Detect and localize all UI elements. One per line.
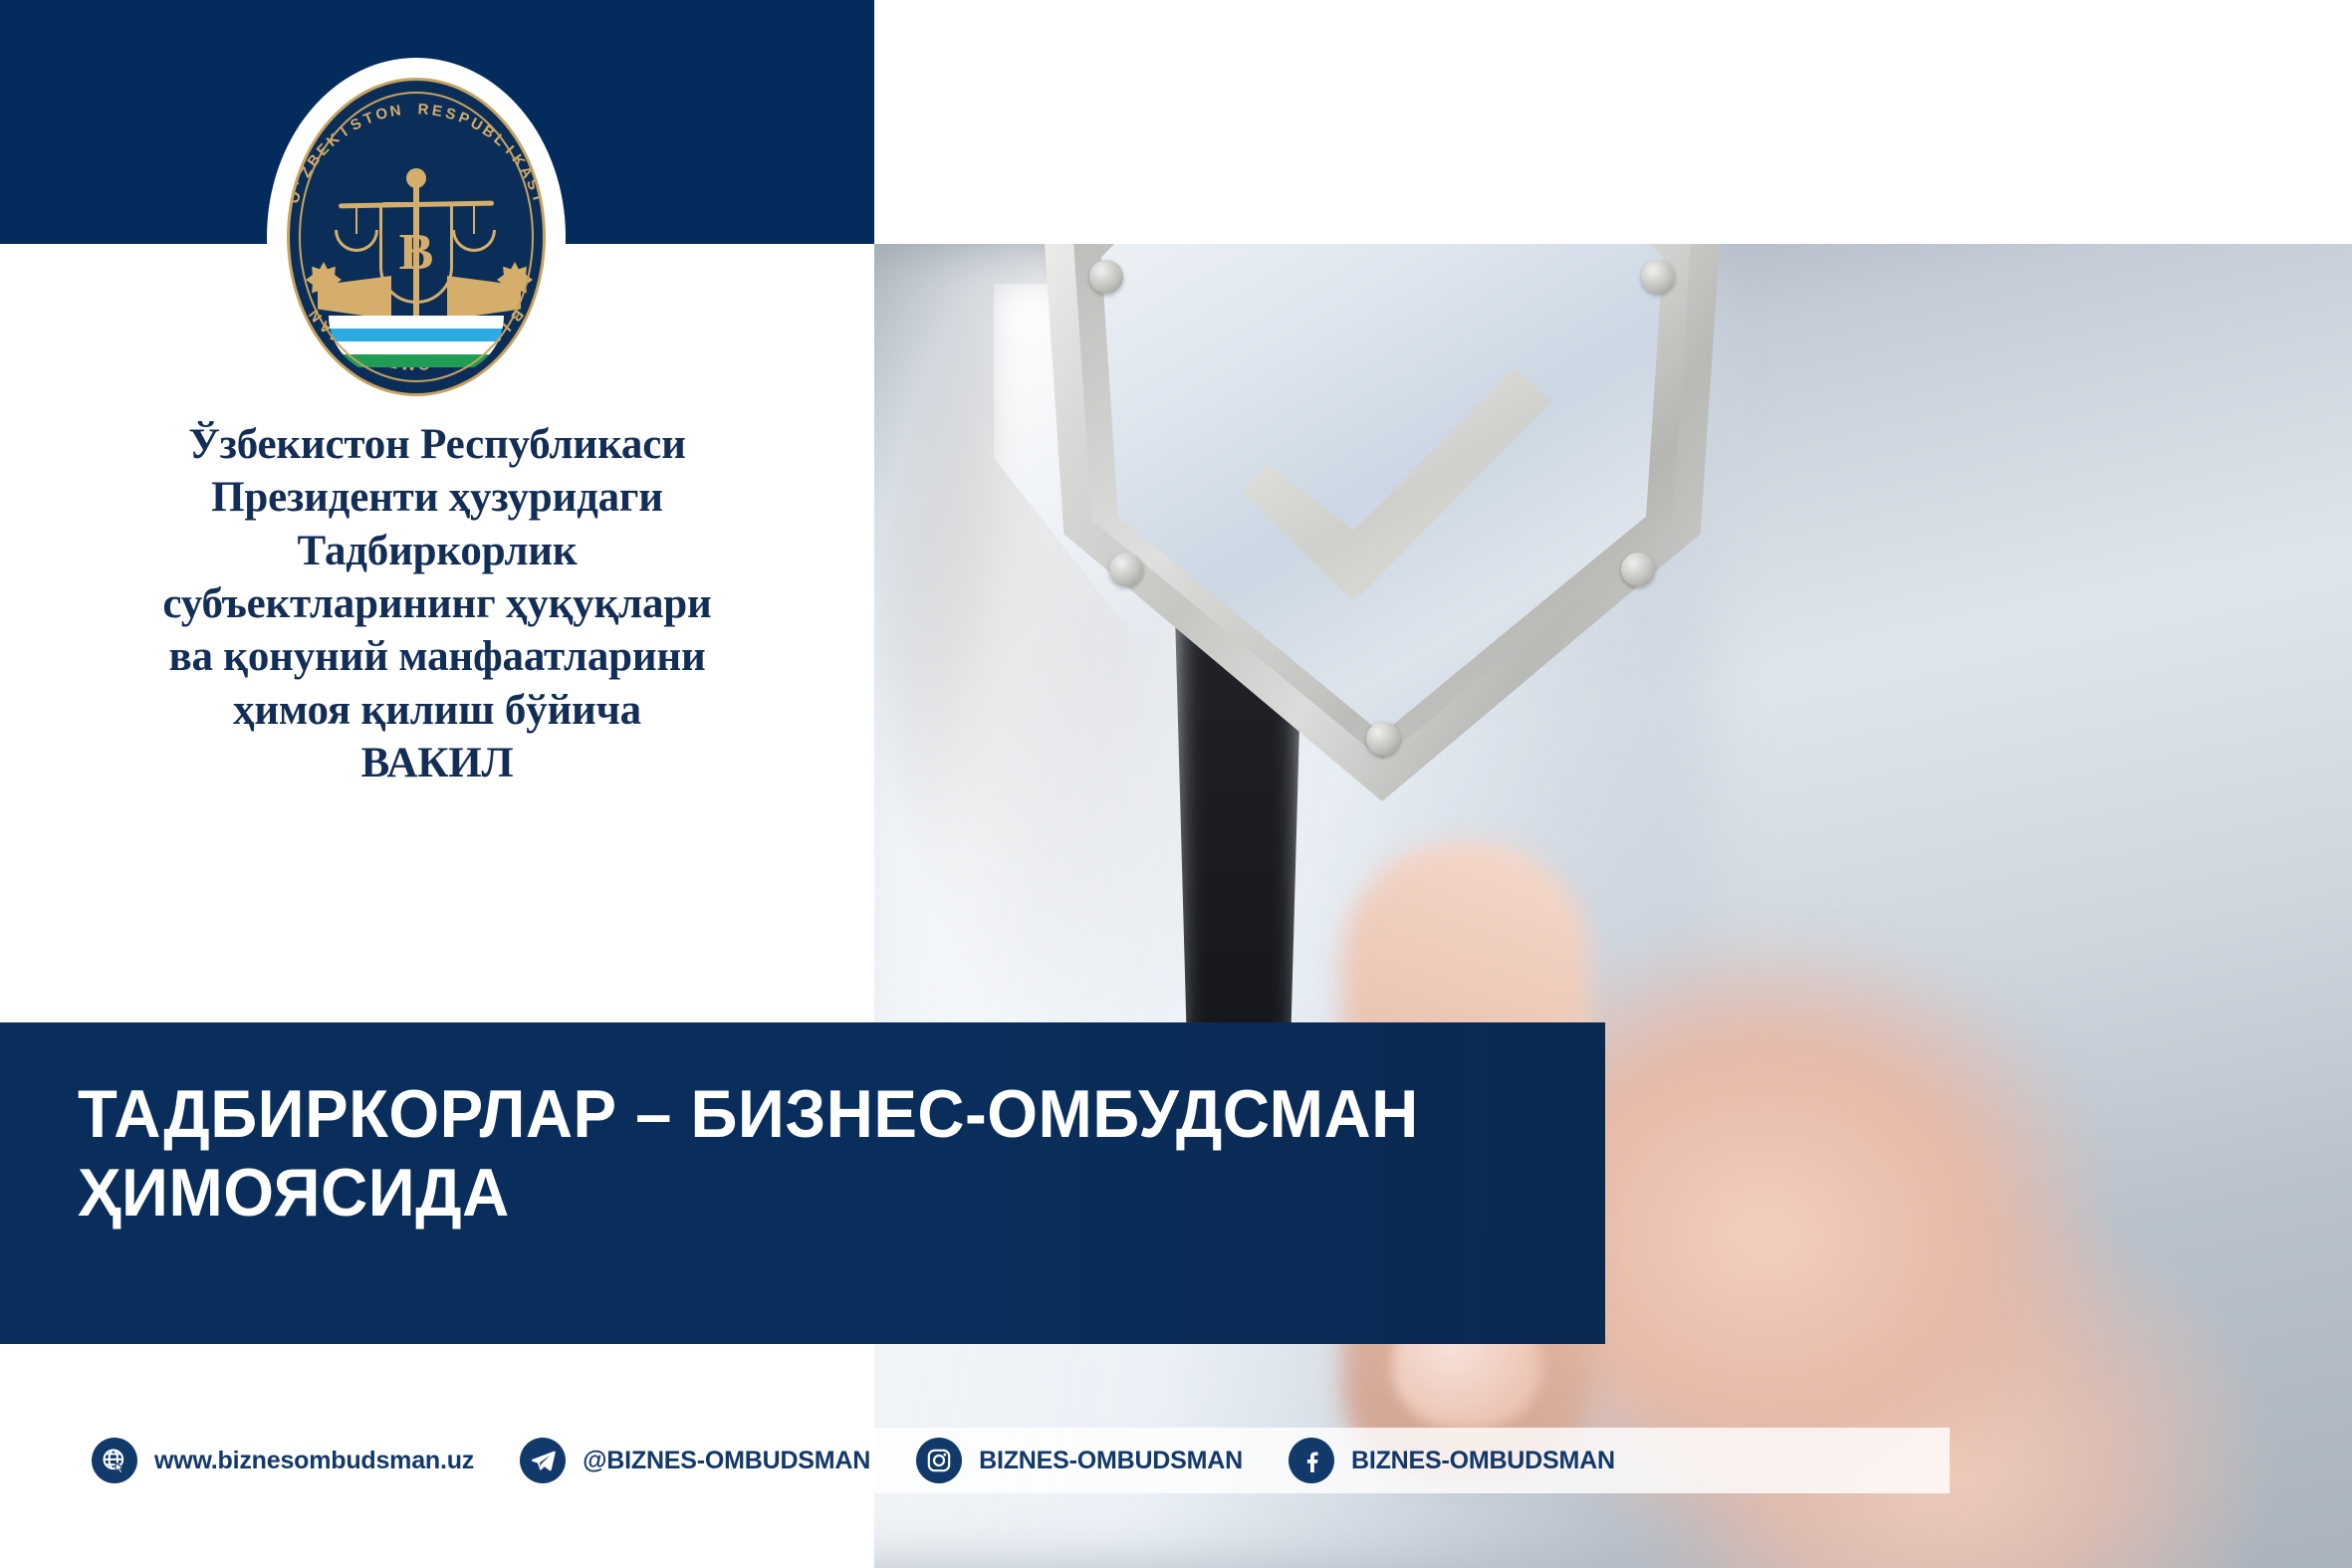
social-link-telegram[interactable]: @BIZNES-OMBUDSMAN: [520, 1438, 870, 1483]
social-link-website[interactable]: www.biznesombudsman.uz: [92, 1438, 474, 1483]
social-label-instagram: BIZNES-OMBUDSMAN: [979, 1447, 1243, 1475]
social-link-facebook[interactable]: BIZNES-OMBUDSMAN: [1289, 1438, 1615, 1483]
shield-rivet: [1641, 260, 1675, 294]
emblem-center-letter: B: [379, 202, 453, 304]
shield-rivet: [1366, 722, 1400, 756]
telegram-icon: [520, 1438, 566, 1483]
org-line: Ўзбекистон Республикаси: [0, 418, 874, 471]
org-line: ва қонуний манфаатларини: [0, 630, 874, 683]
emblem-scales-of-justice-icon: [333, 172, 500, 292]
organization-name-block: Ўзбекистон Республикаси Президенти ҳузур…: [0, 418, 874, 789]
poster-canvas: O‘ZBEKISTON RESPUBLIKASI BIZNES-OMBUDSMA…: [0, 0, 2352, 1568]
social-label-facebook: BIZNES-OMBUDSMAN: [1351, 1447, 1615, 1475]
shield-rivet: [1621, 553, 1655, 586]
instagram-icon: [916, 1438, 962, 1483]
org-line: ҳимоя қилиш бўйича: [0, 684, 874, 737]
shield-inner-face: [1101, 244, 1663, 734]
social-link-instagram[interactable]: BIZNES-OMBUDSMAN: [916, 1438, 1243, 1483]
shield-checkmark-graphic: [1044, 244, 1721, 801]
social-label-website: www.biznesombudsman.uz: [154, 1447, 474, 1475]
globe-icon: [92, 1438, 137, 1483]
emblem-book-right: [447, 276, 521, 320]
background-photo-businessman-shield: [874, 244, 2352, 1568]
social-links-row: www.biznesombudsman.uz @BIZNES-OMBUDSMAN…: [0, 1428, 2352, 1493]
headline-line: ТАДБИРКОРЛАР – БИЗНЕС-ОМБУДСМАН: [78, 1075, 1512, 1154]
emblem-star-left: [306, 262, 342, 298]
biznes-ombudsman-emblem: O‘ZBEKISTON RESPUBLIKASI BIZNES-OMBUDSMA…: [287, 78, 546, 396]
shield-rivet: [1109, 553, 1143, 586]
shield-rivet: [1089, 260, 1123, 294]
org-line: Президенти ҳузуридаги: [0, 471, 874, 524]
headline-text: ТАДБИРКОРЛАР – БИЗНЕС-ОМБУДСМАН ҲИМОЯСИД…: [78, 1075, 1512, 1232]
headline-line: ҲИМОЯСИДА: [78, 1154, 1512, 1232]
emblem-book-left: [318, 276, 391, 320]
org-line: ВАКИЛ: [0, 737, 874, 789]
facebook-icon: [1289, 1438, 1334, 1483]
social-label-telegram: @BIZNES-OMBUDSMAN: [583, 1447, 870, 1475]
emblem-flag-arc: [329, 316, 504, 375]
org-line: субъектларининг ҳуқуқлари: [0, 577, 874, 630]
org-line: Тадбиркорлик: [0, 525, 874, 577]
